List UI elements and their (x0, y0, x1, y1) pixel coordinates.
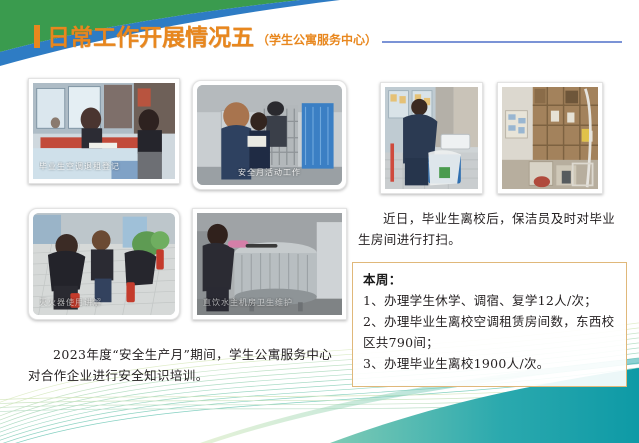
title-divider-line (382, 41, 622, 43)
photo-water-image: 直饮水主机房卫生维护 (197, 213, 342, 315)
photo-reception: 毕业生空调退租登记 (28, 78, 180, 184)
photo-fire-caption: 灭火器使用讲解 (39, 297, 169, 308)
photo-reception-image: 毕业生空调退租登记 (33, 83, 175, 179)
weekly-summary-box: 本周： 1、办理学生休学、调宿、复学12人/次； 2、办理毕业生离校空调租赁房间… (352, 262, 627, 387)
photo-water: 直饮水主机房卫生维护 (192, 208, 347, 320)
photo-safety: 安全月活动工作 (192, 80, 347, 190)
photo-cleaning-image (385, 87, 478, 189)
photo-fire-image: 灭火器使用讲解 (33, 213, 175, 315)
title-main-text: 日常工作开展情况五 (47, 25, 254, 51)
title-accent-bar (34, 25, 40, 48)
weekly-summary-title: 本周： (363, 270, 618, 290)
photo-water-caption: 直饮水主机房卫生维护 (203, 297, 336, 308)
slide-header: 日常工作开展情况五 （学生公寓服务中心） (0, 22, 639, 58)
paragraph-right: 近日，毕业生离校后，保洁员及时对毕业生房间进行打扫。 (358, 208, 626, 250)
photo-dorm-image (502, 87, 598, 189)
weekly-summary-item: 2、办理毕业生离校空调租赁房间数，东西校区共790间； (363, 311, 618, 353)
photo-safety-caption: 安全月活动工作 (203, 167, 336, 178)
photo-dorm (497, 82, 603, 194)
weekly-summary-item: 3、办理毕业生离校1900人/次。 (363, 353, 618, 374)
weekly-summary-item: 1、办理学生休学、调宿、复学12人/次； (363, 290, 618, 311)
page-title: 日常工作开展情况五 （学生公寓服务中心） (34, 22, 377, 51)
paragraph-left: 2023年度“安全生产月”期间，学生公寓服务中心对合作企业进行安全知识培训。 (28, 344, 340, 386)
title-subtitle-text: （学生公寓服务中心） (257, 31, 377, 48)
photo-fire: 灭火器使用讲解 (28, 208, 180, 320)
photo-reception-caption: 毕业生空调退租登记 (39, 161, 169, 172)
photo-cleaning (380, 82, 483, 194)
slide-canvas: 日常工作开展情况五 （学生公寓服务中心） (0, 0, 639, 443)
photo-safety-image: 安全月活动工作 (197, 85, 342, 185)
